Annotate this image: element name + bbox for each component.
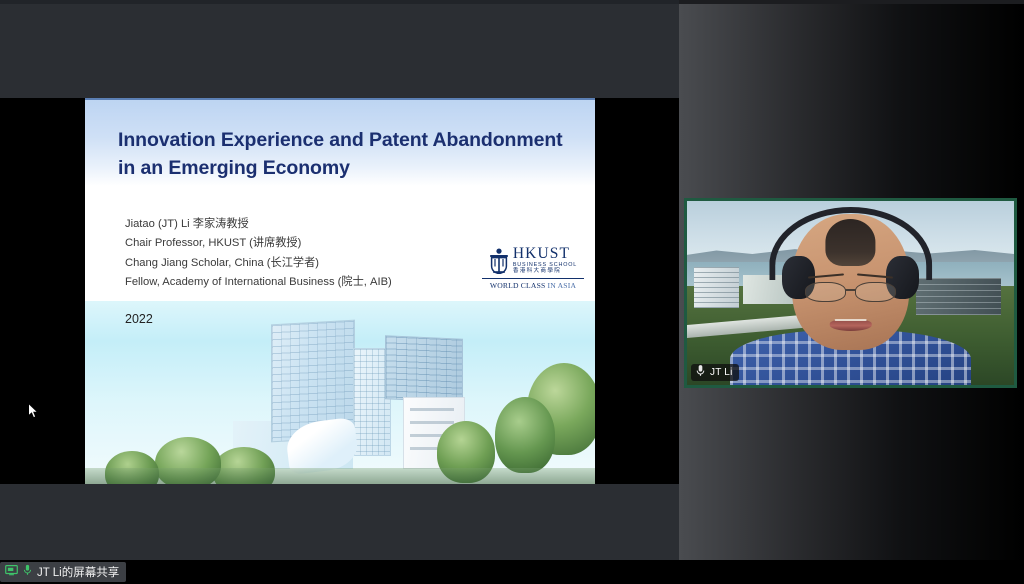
letterbox-right — [595, 98, 679, 484]
participant-strip: JT Li — [679, 0, 1024, 584]
slide-header-rule — [85, 98, 595, 100]
logo-hkust-text: HKUST — [513, 246, 570, 262]
logo-lockup: HKUST BUSINESS SCHOOL 香港科大商學院 — [489, 246, 577, 275]
eyeglasses-lens — [855, 282, 896, 302]
microphone-icon — [23, 563, 32, 581]
logo-wordmark: HKUST BUSINESS SCHOOL 香港科大商學院 — [513, 246, 577, 275]
slide-year: 2022 — [125, 312, 153, 326]
participant-teeth — [834, 319, 867, 321]
hkust-logo: HKUST BUSINESS SCHOOL 香港科大商學院 WORLD CLAS… — [481, 246, 585, 301]
logo-tagline-bold: WORLD CLASS — [490, 281, 546, 290]
logo-tagline-thin: IN ASIA — [548, 281, 577, 290]
logo-tagline: WORLD CLASS IN ASIA — [490, 281, 576, 290]
eyeglasses-bridge — [845, 289, 857, 291]
slide-title: Innovation Experience and Patent Abandon… — [118, 127, 568, 182]
participant-name-text: JT Li — [710, 367, 733, 378]
letterbox-top — [0, 4, 679, 98]
author-line-fellow: Fellow, Academy of International Busines… — [125, 273, 455, 292]
campus-tower-c — [385, 335, 463, 403]
campus-ground — [85, 468, 595, 484]
participant-video-tile[interactable]: JT Li — [684, 198, 1017, 388]
participant-name-badge: JT Li — [691, 364, 739, 381]
logo-divider — [482, 278, 584, 279]
hkust-emblem-icon — [489, 248, 509, 274]
eyeglasses-lens — [805, 282, 846, 302]
video-background-building — [694, 267, 740, 307]
shared-screen-stage[interactable]: Innovation Experience and Patent Abandon… — [0, 0, 679, 560]
logo-school-cn-text: 香港科大商學院 — [513, 269, 561, 275]
video-background-building — [916, 278, 1001, 315]
letterbox-left — [0, 98, 85, 484]
author-line-name: Jiatao (JT) Li 李家涛教授 — [125, 215, 455, 234]
author-line-title: Chair Professor, HKUST (讲席教授) — [125, 234, 455, 253]
letterbox-bottom — [0, 484, 679, 560]
presentation-slide[interactable]: Innovation Experience and Patent Abandon… — [85, 98, 595, 484]
taskbar: JT Li的屏幕共享 — [0, 560, 1024, 584]
campus-rendering-image — [85, 301, 595, 484]
author-block: Jiatao (JT) Li 李家涛教授 Chair Professor, HK… — [125, 215, 455, 293]
microphone-icon — [695, 364, 706, 382]
campus-tree — [495, 397, 555, 473]
author-line-scholar: Chang Jiang Scholar, China (长江学者) — [125, 254, 455, 273]
mouse-pointer-icon — [28, 403, 39, 419]
screen-share-status-text: JT Li的屏幕共享 — [37, 564, 119, 580]
screen-share-icon — [5, 563, 18, 581]
screen-share-indicator[interactable]: JT Li的屏幕共享 — [0, 562, 126, 582]
meeting-window: Innovation Experience and Patent Abandon… — [0, 0, 1024, 584]
